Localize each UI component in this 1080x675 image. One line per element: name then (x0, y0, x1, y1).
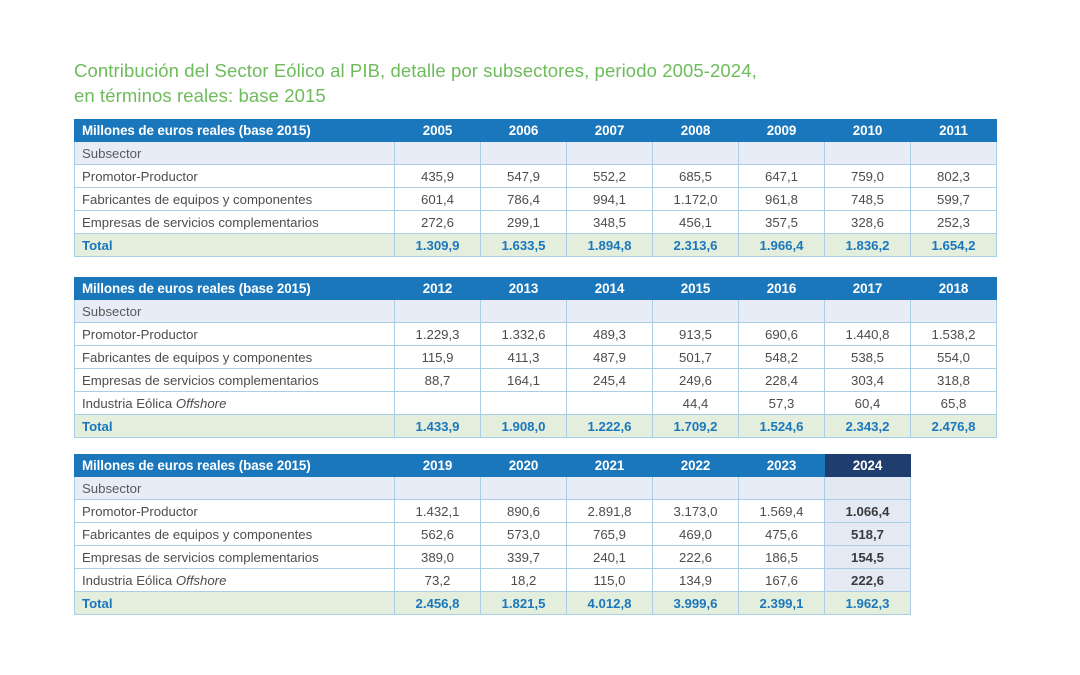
cell-servicios-2018: 318,8 (911, 369, 997, 392)
cell-servicios-2005: 272,6 (395, 211, 481, 234)
page-title-line-2: en términos reales: base 2015 (74, 83, 974, 108)
cell-fabricantes-2020: 573,0 (481, 523, 567, 546)
document-page: Contribución del Sector Eólico al PIB, d… (0, 0, 1080, 675)
subsector-band-spacer (825, 300, 911, 323)
cell-total-2007: 1.894,8 (567, 234, 653, 257)
table-row: Fabricantes de equipos y componentes115,… (75, 346, 997, 369)
table-row: Promotor-Productor1.229,31.332,6489,3913… (75, 323, 997, 346)
subsector-band-row: Subsector (75, 142, 997, 165)
cell-servicios-2010: 328,6 (825, 211, 911, 234)
subsector-band-spacer (739, 300, 825, 323)
cell-promotor-2015: 913,5 (653, 323, 739, 346)
subsector-band-spacer (653, 477, 739, 500)
cell-servicios-2007: 348,5 (567, 211, 653, 234)
column-header-unit-label: Millones de euros reales (base 2015) (75, 278, 395, 300)
table-total-row: Total1.433,91.908,01.222,61.709,21.524,6… (75, 415, 997, 438)
cell-fabricantes-2013: 411,3 (481, 346, 567, 369)
column-header-year-2011: 2011 (911, 120, 997, 142)
cell-fabricantes-2016: 548,2 (739, 346, 825, 369)
cell-total-2017: 2.343,2 (825, 415, 911, 438)
cell-total-2019: 2.456,8 (395, 592, 481, 615)
cell-servicios-2019: 389,0 (395, 546, 481, 569)
cell-fabricantes-2018: 554,0 (911, 346, 997, 369)
cell-offshore-2018: 65,8 (911, 392, 997, 415)
cell-promotor-2012: 1.229,3 (395, 323, 481, 346)
row-label-offshore-emphasis: Offshore (176, 396, 227, 411)
cell-promotor-2011: 802,3 (911, 165, 997, 188)
cell-promotor-2010: 759,0 (825, 165, 911, 188)
cell-fabricantes-2024: 518,7 (825, 523, 911, 546)
cell-promotor-2006: 547,9 (481, 165, 567, 188)
cell-promotor-2018: 1.538,2 (911, 323, 997, 346)
subsector-band-spacer (739, 142, 825, 165)
column-header-year-2017: 2017 (825, 278, 911, 300)
subsector-band-spacer (653, 142, 739, 165)
cell-servicios-2008: 456,1 (653, 211, 739, 234)
cell-servicios-2022: 222,6 (653, 546, 739, 569)
cell-total-2009: 1.966,4 (739, 234, 825, 257)
cell-servicios-2011: 252,3 (911, 211, 997, 234)
cell-fabricantes-2005: 601,4 (395, 188, 481, 211)
cell-promotor-2024: 1.066,4 (825, 500, 911, 523)
subsector-band-row: Subsector (75, 300, 997, 323)
table-row: Empresas de servicios complementarios272… (75, 211, 997, 234)
subsector-band-row: Subsector (75, 477, 911, 500)
column-header-year-2019: 2019 (395, 455, 481, 477)
row-label-fabricantes: Fabricantes de equipos y componentes (75, 523, 395, 546)
column-header-year-2021: 2021 (567, 455, 653, 477)
cell-servicios-2023: 186,5 (739, 546, 825, 569)
column-header-year-2012: 2012 (395, 278, 481, 300)
table-row: Promotor-Productor435,9547,9552,2685,564… (75, 165, 997, 188)
cell-servicios-2020: 339,7 (481, 546, 567, 569)
table-2019-2024: Millones de euros reales (base 2015)2019… (74, 454, 911, 615)
table-header-row: Millones de euros reales (base 2015)2019… (75, 455, 911, 477)
page-title: Contribución del Sector Eólico al PIB, d… (74, 58, 974, 108)
cell-total-2012: 1.433,9 (395, 415, 481, 438)
cell-offshore-2024: 222,6 (825, 569, 911, 592)
total-row-label: Total (75, 592, 395, 615)
cell-fabricantes-2006: 786,4 (481, 188, 567, 211)
cell-total-2024: 1.962,3 (825, 592, 911, 615)
cell-promotor-2016: 690,6 (739, 323, 825, 346)
subsector-band-spacer (653, 300, 739, 323)
cell-total-2014: 1.222,6 (567, 415, 653, 438)
cell-offshore-2015: 44,4 (653, 392, 739, 415)
table-header-row: Millones de euros reales (base 2015)2012… (75, 278, 997, 300)
cell-fabricantes-2007: 994,1 (567, 188, 653, 211)
column-header-year-2013: 2013 (481, 278, 567, 300)
cell-promotor-2021: 2.891,8 (567, 500, 653, 523)
cell-fabricantes-2009: 961,8 (739, 188, 825, 211)
subsector-band-spacer (481, 477, 567, 500)
cell-servicios-2017: 303,4 (825, 369, 911, 392)
row-label-servicios: Empresas de servicios complementarios (75, 369, 395, 392)
column-header-year-2023: 2023 (739, 455, 825, 477)
row-label-offshore: Industria Eólica Offshore (75, 569, 395, 592)
cell-offshore-2023: 167,6 (739, 569, 825, 592)
table-row: Empresas de servicios complementarios389… (75, 546, 911, 569)
row-label-fabricantes: Fabricantes de equipos y componentes (75, 346, 395, 369)
cell-total-2008: 2.313,6 (653, 234, 739, 257)
subsector-band-spacer (481, 300, 567, 323)
table-row: Industria Eólica Offshore73,218,2115,013… (75, 569, 911, 592)
cell-total-2005: 1.309,9 (395, 234, 481, 257)
subsector-band-spacer (481, 142, 567, 165)
cell-fabricantes-2017: 538,5 (825, 346, 911, 369)
row-label-fabricantes: Fabricantes de equipos y componentes (75, 188, 395, 211)
row-label-offshore: Industria Eólica Offshore (75, 392, 395, 415)
cell-servicios-2006: 299,1 (481, 211, 567, 234)
subsector-band-spacer (825, 142, 911, 165)
cell-fabricantes-2015: 501,7 (653, 346, 739, 369)
cell-fabricantes-2012: 115,9 (395, 346, 481, 369)
cell-servicios-2013: 164,1 (481, 369, 567, 392)
cell-servicios-2015: 249,6 (653, 369, 739, 392)
table-2005-2011: Millones de euros reales (base 2015)2005… (74, 119, 997, 257)
subsector-band-spacer (567, 477, 653, 500)
cell-promotor-2007: 552,2 (567, 165, 653, 188)
cell-total-2010: 1.836,2 (825, 234, 911, 257)
cell-offshore-2021: 115,0 (567, 569, 653, 592)
row-label-servicios: Empresas de servicios complementarios (75, 211, 395, 234)
column-header-year-2016: 2016 (739, 278, 825, 300)
table-row: Fabricantes de equipos y componentes562,… (75, 523, 911, 546)
subsector-band-label: Subsector (75, 142, 395, 165)
cell-servicios-2016: 228,4 (739, 369, 825, 392)
cell-fabricantes-2023: 475,6 (739, 523, 825, 546)
cell-fabricantes-2021: 765,9 (567, 523, 653, 546)
cell-offshore-2012 (395, 392, 481, 415)
column-header-year-2015: 2015 (653, 278, 739, 300)
column-header-year-2007: 2007 (567, 120, 653, 142)
table-row: Promotor-Productor1.432,1890,62.891,83.1… (75, 500, 911, 523)
cell-promotor-2019: 1.432,1 (395, 500, 481, 523)
column-header-year-2008: 2008 (653, 120, 739, 142)
table-row: Industria Eólica Offshore44,457,360,465,… (75, 392, 997, 415)
cell-servicios-2014: 245,4 (567, 369, 653, 392)
cell-offshore-2022: 134,9 (653, 569, 739, 592)
cell-total-2022: 3.999,6 (653, 592, 739, 615)
cell-offshore-2019: 73,2 (395, 569, 481, 592)
cell-offshore-2013 (481, 392, 567, 415)
cell-promotor-2017: 1.440,8 (825, 323, 911, 346)
cell-servicios-2021: 240,1 (567, 546, 653, 569)
table-total-row: Total1.309,91.633,51.894,82.313,61.966,4… (75, 234, 997, 257)
cell-fabricantes-2008: 1.172,0 (653, 188, 739, 211)
column-header-unit-label: Millones de euros reales (base 2015) (75, 455, 395, 477)
cell-fabricantes-2022: 469,0 (653, 523, 739, 546)
cell-total-2013: 1.908,0 (481, 415, 567, 438)
column-header-year-2024: 2024 (825, 455, 911, 477)
table-row: Fabricantes de equipos y componentes601,… (75, 188, 997, 211)
column-header-year-2009: 2009 (739, 120, 825, 142)
cell-total-2021: 4.012,8 (567, 592, 653, 615)
cell-offshore-2017: 60,4 (825, 392, 911, 415)
cell-fabricantes-2014: 487,9 (567, 346, 653, 369)
column-header-year-2018: 2018 (911, 278, 997, 300)
table-2012-2018: Millones de euros reales (base 2015)2012… (74, 277, 997, 438)
subsector-band-spacer (395, 300, 481, 323)
subsector-band-spacer (567, 300, 653, 323)
total-row-label: Total (75, 234, 395, 257)
subsector-band-spacer (739, 477, 825, 500)
column-header-unit-label: Millones de euros reales (base 2015) (75, 120, 395, 142)
cell-promotor-2023: 1.569,4 (739, 500, 825, 523)
cell-servicios-2012: 88,7 (395, 369, 481, 392)
cell-fabricantes-2019: 562,6 (395, 523, 481, 546)
table-total-row: Total2.456,81.821,54.012,83.999,62.399,1… (75, 592, 911, 615)
column-header-year-2005: 2005 (395, 120, 481, 142)
cell-fabricantes-2010: 748,5 (825, 188, 911, 211)
cell-fabricantes-2011: 599,7 (911, 188, 997, 211)
column-header-year-2010: 2010 (825, 120, 911, 142)
subsector-band-spacer (567, 142, 653, 165)
cell-total-2018: 2.476,8 (911, 415, 997, 438)
cell-promotor-2005: 435,9 (395, 165, 481, 188)
page-title-line-1: Contribución del Sector Eólico al PIB, d… (74, 58, 974, 83)
cell-servicios-2009: 357,5 (739, 211, 825, 234)
cell-offshore-2020: 18,2 (481, 569, 567, 592)
subsector-band-spacer (395, 142, 481, 165)
cell-promotor-2022: 3.173,0 (653, 500, 739, 523)
subsector-band-spacer (825, 477, 911, 500)
cell-total-2016: 1.524,6 (739, 415, 825, 438)
cell-promotor-2014: 489,3 (567, 323, 653, 346)
cell-promotor-2009: 647,1 (739, 165, 825, 188)
row-label-offshore-emphasis: Offshore (176, 573, 227, 588)
subsector-band-label: Subsector (75, 477, 395, 500)
cell-promotor-2013: 1.332,6 (481, 323, 567, 346)
cell-promotor-2020: 890,6 (481, 500, 567, 523)
subsector-band-spacer (395, 477, 481, 500)
cell-total-2006: 1.633,5 (481, 234, 567, 257)
cell-offshore-2016: 57,3 (739, 392, 825, 415)
row-label-promotor: Promotor-Productor (75, 165, 395, 188)
column-header-year-2020: 2020 (481, 455, 567, 477)
cell-total-2023: 2.399,1 (739, 592, 825, 615)
cell-total-2015: 1.709,2 (653, 415, 739, 438)
cell-total-2011: 1.654,2 (911, 234, 997, 257)
row-label-promotor: Promotor-Productor (75, 500, 395, 523)
cell-servicios-2024: 154,5 (825, 546, 911, 569)
cell-promotor-2008: 685,5 (653, 165, 739, 188)
row-label-promotor: Promotor-Productor (75, 323, 395, 346)
subsector-band-spacer (911, 142, 997, 165)
column-header-year-2022: 2022 (653, 455, 739, 477)
column-header-year-2014: 2014 (567, 278, 653, 300)
row-label-servicios: Empresas de servicios complementarios (75, 546, 395, 569)
subsector-band-label: Subsector (75, 300, 395, 323)
table-row: Empresas de servicios complementarios88,… (75, 369, 997, 392)
column-header-year-2006: 2006 (481, 120, 567, 142)
table-header-row: Millones de euros reales (base 2015)2005… (75, 120, 997, 142)
cell-total-2020: 1.821,5 (481, 592, 567, 615)
total-row-label: Total (75, 415, 395, 438)
cell-offshore-2014 (567, 392, 653, 415)
subsector-band-spacer (911, 300, 997, 323)
